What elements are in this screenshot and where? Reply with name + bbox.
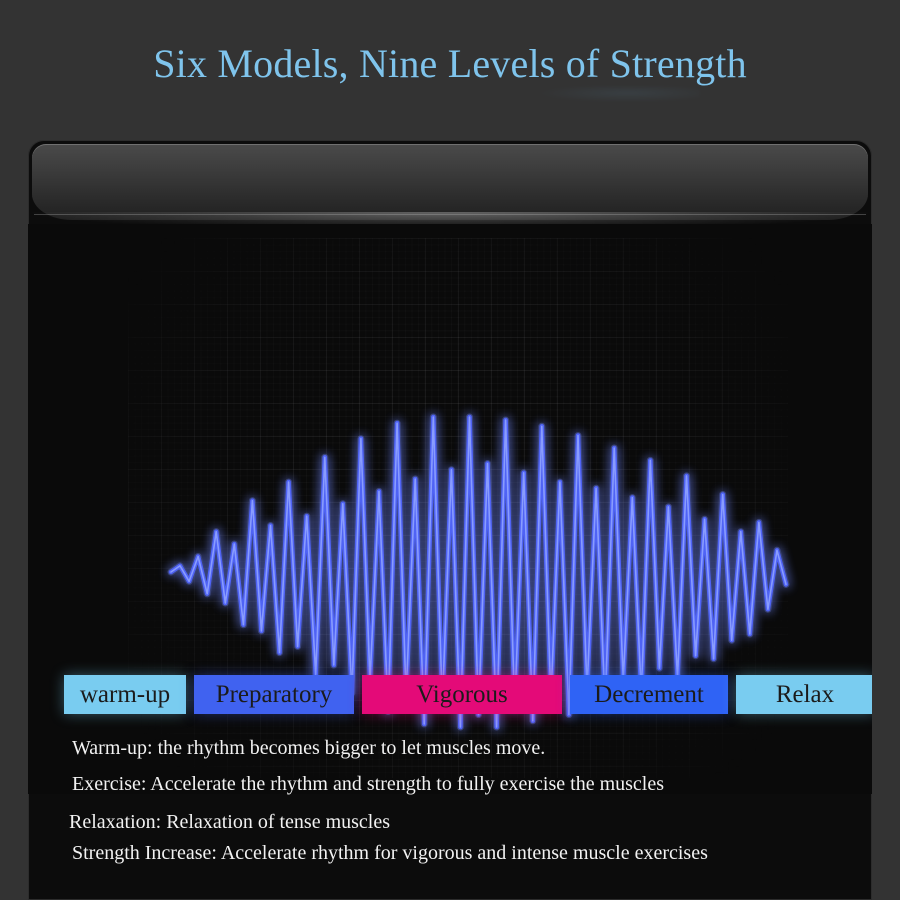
legend-label: Vigorous — [416, 681, 508, 708]
legend-badge-decrement[interactable]: Decrement — [570, 675, 728, 714]
device-top-bezel — [32, 144, 868, 220]
title-glow-artifact — [520, 86, 700, 104]
legend-label: warm-up — [80, 681, 170, 708]
description-line-exercise: Exercise: Accelerate the rhythm and stre… — [72, 772, 664, 796]
legend-badge-vigorous[interactable]: Vigorous — [362, 675, 562, 714]
intensity-legend: warm-up Preparatory Vigorous Decrement R… — [28, 675, 872, 717]
legend-label: Preparatory — [216, 681, 333, 708]
description-line-strength: Strength Increase: Accelerate rhythm for… — [72, 841, 708, 865]
legend-badge-preparatory[interactable]: Preparatory — [194, 675, 354, 714]
legend-label: Relax — [776, 681, 834, 708]
massage-device-panel: warm-up Preparatory Vigorous Decrement R… — [28, 140, 872, 900]
description-line-warmup: Warm-up: the rhythm becomes bigger to le… — [72, 736, 545, 760]
legend-label: Decrement — [594, 681, 704, 708]
page-title: Six Models, Nine Levels of Strength — [0, 38, 900, 90]
description-line-relax: Relaxation: Relaxation of tense muscles — [69, 810, 390, 834]
page-root: Six Models, Nine Levels of Strength — [0, 0, 900, 900]
legend-badge-warm-up[interactable]: warm-up — [64, 675, 186, 714]
legend-badge-relax[interactable]: Relax — [736, 675, 872, 714]
